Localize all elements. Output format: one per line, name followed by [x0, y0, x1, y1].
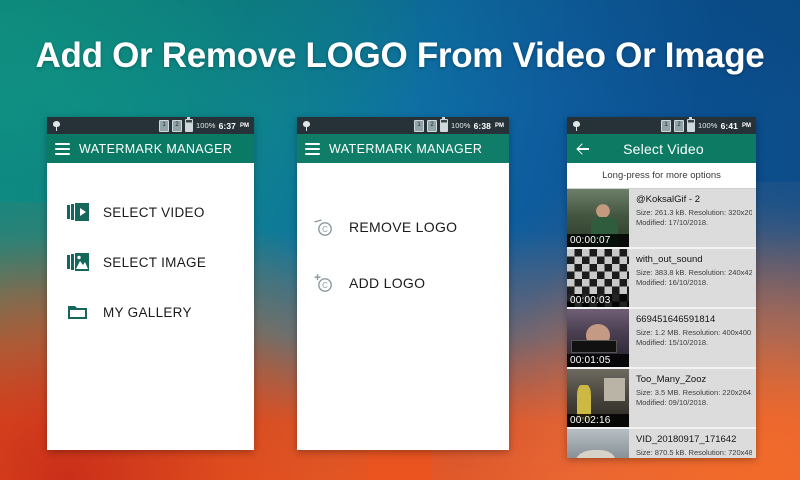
list-item[interactable]: VID_20180917_171642 Size: 870.5 kB. Reso… [567, 429, 756, 458]
menu-item-label: REMOVE LOGO [349, 219, 457, 235]
hamburger-menu-icon[interactable] [55, 143, 70, 155]
hamburger-menu-icon[interactable] [305, 143, 320, 155]
status-right-icons: 1 2 100% 6:38 PM [414, 119, 504, 132]
clock-time: 6:37 [219, 121, 236, 131]
app-bar-title: WATERMARK MANAGER [329, 142, 482, 156]
pin-icon [52, 120, 61, 131]
status-right-icons: 1 2 100% 6:37 PM [159, 119, 249, 132]
svg-text:C: C [322, 225, 328, 234]
promo-banner: Add Or Remove LOGO From Video Or Image 1… [0, 0, 800, 480]
status-left-icons [52, 120, 61, 131]
add-copyright-icon: C [313, 273, 335, 293]
video-duration: 00:01:05 [567, 354, 629, 367]
list-item[interactable]: 00:00:03 with_out_sound Size: 383.8 kB. … [567, 249, 756, 309]
app-bar-title: WATERMARK MANAGER [79, 142, 232, 156]
video-meta: with_out_sound Size: 383.8 kB. Resolutio… [629, 249, 756, 307]
sim-card-icon: 2 [427, 120, 437, 132]
sim-card-icon: 2 [674, 120, 684, 132]
back-arrow-icon[interactable] [575, 141, 591, 157]
sim-card-icon: 1 [159, 120, 169, 132]
video-meta: 669451646591814 Size: 1.2 MB. Resolution… [629, 309, 756, 367]
menu-item-remove-logo[interactable]: C REMOVE LOGO [297, 199, 509, 255]
app-bar-2: WATERMARK MANAGER [297, 134, 509, 163]
photo-library-icon [67, 252, 89, 272]
battery-percent: 100% [196, 121, 216, 130]
video-duration: 00:00:03 [567, 294, 629, 307]
menu-item-label: SELECT IMAGE [103, 255, 206, 270]
folder-icon [67, 302, 89, 322]
video-thumbnail: 00:01:05 [567, 309, 629, 367]
phone-screen-3: 1 2 100% 6:41 PM Select Video Long-press… [567, 117, 756, 458]
phone-screen-1: 1 2 100% 6:37 PM WATERMARK MANAGER [47, 117, 254, 450]
main-menu-list-1: SELECT VIDEO SELECT IMAGE [47, 163, 254, 450]
menu-item-label: SELECT VIDEO [103, 205, 205, 220]
sim-card-icon: 1 [414, 120, 424, 132]
video-title: with_out_sound [636, 254, 752, 265]
video-modified: Modified: 15/10/2018. [636, 338, 752, 348]
list-item[interactable]: 00:02:16 Too_Many_Zooz Size: 3.5 MB. Res… [567, 369, 756, 429]
status-bar-2: 1 2 100% 6:38 PM [297, 117, 509, 134]
video-modified: Modified: 17/10/2018. [636, 218, 752, 228]
clock-time: 6:38 [474, 121, 491, 131]
long-press-hint: Long-press for more options [567, 163, 756, 189]
menu-item-label: MY GALLERY [103, 305, 192, 320]
clock-ampm: PM [742, 123, 751, 129]
battery-icon [440, 119, 448, 132]
video-title: VID_20180917_171642 [636, 434, 752, 445]
page-title: Add Or Remove LOGO From Video Or Image [0, 36, 800, 76]
video-size-resolution: Size: 261.3 kB. Resolution: 320x206. [636, 208, 752, 218]
app-bar-title: Select Video [595, 141, 748, 157]
battery-percent: 100% [698, 121, 718, 130]
app-bar-3: Select Video [567, 134, 756, 163]
video-title: @KoksalGif - 2 [636, 194, 752, 205]
battery-icon [687, 119, 695, 132]
main-menu-list-2: C REMOVE LOGO C ADD LOGO [297, 163, 509, 450]
sim-card-icon: 1 [661, 120, 671, 132]
clock-time: 6:41 [721, 121, 738, 131]
video-size-resolution: Size: 3.5 MB. Resolution: 220x264. [636, 388, 752, 398]
status-bar-3: 1 2 100% 6:41 PM [567, 117, 756, 134]
status-left-icons [302, 120, 311, 131]
video-modified: Modified: 16/10/2018. [636, 278, 752, 288]
phone-screen-2: 1 2 100% 6:38 PM WATERMARK MANAGER C [297, 117, 509, 450]
remove-copyright-icon: C [313, 217, 335, 237]
list-item[interactable]: 00:01:05 669451646591814 Size: 1.2 MB. R… [567, 309, 756, 369]
video-meta: @KoksalGif - 2 Size: 261.3 kB. Resolutio… [629, 189, 756, 247]
pin-icon [572, 120, 581, 131]
video-meta: Too_Many_Zooz Size: 3.5 MB. Resolution: … [629, 369, 756, 427]
video-size-resolution: Size: 383.8 kB. Resolution: 240x426. [636, 268, 752, 278]
status-left-icons [572, 120, 581, 131]
video-duration: 00:00:07 [567, 234, 629, 247]
battery-percent: 100% [451, 121, 471, 130]
video-size-resolution: Size: 870.5 kB. Resolution: 720x480. [636, 448, 752, 458]
video-title: Too_Many_Zooz [636, 374, 752, 385]
menu-item-select-image[interactable]: SELECT IMAGE [47, 237, 254, 287]
video-list[interactable]: 00:00:07 @KoksalGif - 2 Size: 261.3 kB. … [567, 189, 756, 458]
svg-text:C: C [322, 281, 328, 290]
list-item[interactable]: 00:00:07 @KoksalGif - 2 Size: 261.3 kB. … [567, 189, 756, 249]
status-right-icons: 1 2 100% 6:41 PM [661, 119, 751, 132]
video-library-icon [67, 202, 89, 222]
video-size-resolution: Size: 1.2 MB. Resolution: 400x400. [636, 328, 752, 338]
video-thumbnail: 00:00:07 [567, 189, 629, 247]
status-bar-1: 1 2 100% 6:37 PM [47, 117, 254, 134]
video-thumbnail [567, 429, 629, 458]
sim-card-icon: 2 [172, 120, 182, 132]
app-bar-1: WATERMARK MANAGER [47, 134, 254, 163]
video-title: 669451646591814 [636, 314, 752, 325]
pin-icon [302, 120, 311, 131]
clock-ampm: PM [240, 123, 249, 129]
video-modified: Modified: 09/10/2018. [636, 398, 752, 408]
video-meta: VID_20180917_171642 Size: 870.5 kB. Reso… [629, 429, 756, 458]
menu-item-my-gallery[interactable]: MY GALLERY [47, 287, 254, 337]
battery-icon [185, 119, 193, 132]
menu-item-select-video[interactable]: SELECT VIDEO [47, 187, 254, 237]
menu-item-label: ADD LOGO [349, 275, 425, 291]
video-duration: 00:02:16 [567, 414, 629, 427]
menu-item-add-logo[interactable]: C ADD LOGO [297, 255, 509, 311]
video-thumbnail: 00:00:03 [567, 249, 629, 307]
video-thumbnail: 00:02:16 [567, 369, 629, 427]
clock-ampm: PM [495, 123, 504, 129]
